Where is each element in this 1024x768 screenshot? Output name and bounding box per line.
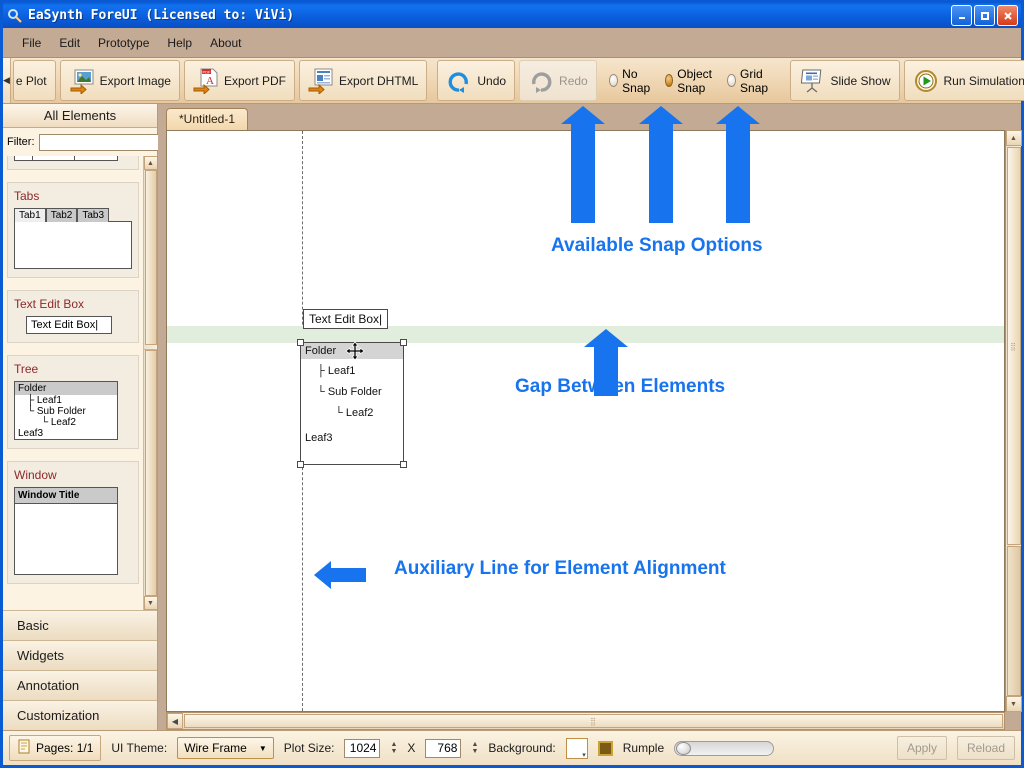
radio-grid-snap-icon bbox=[727, 74, 736, 87]
canvas-scroll-down-button[interactable]: ▼ bbox=[1006, 696, 1022, 712]
element-card-table[interactable]: 03 WindRx 123 bbox=[7, 156, 139, 170]
selection-handle-bottom-left[interactable] bbox=[297, 461, 304, 468]
magnifier-tag-icon bbox=[7, 8, 23, 24]
run-simulation-button[interactable]: Run Simulation bbox=[904, 60, 1024, 101]
canvas-scroll-left-button[interactable]: ◀ bbox=[167, 713, 183, 729]
reload-button[interactable]: Reload bbox=[957, 736, 1015, 760]
plot-height-input[interactable]: 768 bbox=[425, 739, 461, 758]
sidebar-category-basic[interactable]: Basic bbox=[3, 610, 157, 640]
status-bar: Pages: 1/1 UI Theme: Wire Frame ▼ Plot S… bbox=[3, 730, 1021, 765]
svg-text:PDF: PDF bbox=[202, 69, 211, 74]
mini-window-body bbox=[15, 504, 117, 574]
ui-theme-value: Wire Frame bbox=[184, 741, 247, 755]
export-pdf-icon: PDF A bbox=[193, 68, 219, 94]
radio-no-snap[interactable]: No Snap bbox=[605, 65, 658, 97]
close-button[interactable] bbox=[997, 5, 1018, 26]
canvas-hscroll-thumb[interactable]: ⣿ bbox=[184, 714, 1003, 728]
mini-table-cell-1: WindRx bbox=[33, 156, 75, 160]
element-title-tabs: Tabs bbox=[14, 189, 132, 203]
annotation-gap: Gap Between Elements bbox=[515, 376, 725, 398]
element-title-window: Window bbox=[14, 468, 132, 482]
menu-item-prototype[interactable]: Prototype bbox=[89, 33, 158, 53]
spinner-up-icon[interactable]: ▲ bbox=[390, 741, 397, 748]
scroll-grip-icon: ⣿ bbox=[1010, 342, 1017, 351]
elements-scroll-area: 03 WindRx 123 Tabs Tab1 Tab2 Tab3 bbox=[3, 156, 157, 610]
export-image-button[interactable]: Export Image bbox=[60, 60, 180, 101]
sidebar-scroll-down-button[interactable]: ▼ bbox=[144, 596, 158, 610]
category-list: Basic Widgets Annotation Customization bbox=[3, 610, 157, 730]
sidebar-scroll-thumb-lower[interactable] bbox=[145, 350, 157, 596]
pages-label: Pages: 1/1 bbox=[36, 741, 93, 755]
pages-icon bbox=[17, 739, 31, 757]
ui-theme-select[interactable]: Wire Frame ▼ bbox=[177, 737, 274, 759]
main-toolbar: ◀ e Plot Export Image PDF bbox=[3, 58, 1021, 104]
slide-show-label: Slide Show bbox=[830, 74, 890, 88]
arrow-no-snap-indicator bbox=[571, 123, 595, 223]
filter-label: Filter: bbox=[7, 136, 35, 148]
canvas-scroll-track-lower[interactable] bbox=[1007, 546, 1021, 696]
canvas-scroll-up-button[interactable]: ▲ bbox=[1006, 130, 1022, 146]
mini-tab-3: Tab3 bbox=[77, 208, 109, 222]
undo-button[interactable]: Undo bbox=[437, 60, 515, 101]
mini-tree-node-3: └ Leaf2 bbox=[15, 417, 117, 428]
elements-list: 03 WindRx 123 Tabs Tab1 Tab2 Tab3 bbox=[3, 156, 143, 610]
hscroll-grip-icon: ⣿ bbox=[590, 717, 597, 726]
window-controls bbox=[951, 5, 1018, 26]
radio-object-snap-icon bbox=[665, 74, 674, 87]
mini-tab-1: Tab1 bbox=[14, 208, 46, 222]
maximize-button[interactable] bbox=[974, 5, 995, 26]
arrow-object-snap-indicator bbox=[649, 123, 673, 223]
export-pdf-label: Export PDF bbox=[224, 74, 286, 88]
element-card-tree[interactable]: Tree Folder ├ Leaf1 └ Sub Folder └ Leaf2… bbox=[7, 355, 139, 449]
mini-tree: Folder ├ Leaf1 └ Sub Folder └ Leaf2 Leaf… bbox=[14, 381, 118, 440]
sidebar-scroll-thumb-upper[interactable] bbox=[145, 170, 157, 345]
title-bar: EaSynth ForeUI (Licensed to: ViVi) bbox=[3, 3, 1021, 28]
background-color-picker[interactable] bbox=[566, 738, 588, 759]
menu-item-file[interactable]: File bbox=[13, 33, 50, 53]
run-simulation-icon bbox=[913, 68, 939, 94]
undo-label: Undo bbox=[477, 74, 506, 88]
canvas-horizontal-scrollbar[interactable]: ◀ ⣿ bbox=[166, 712, 1005, 730]
plot-height-spinner[interactable]: ▲ ▼ bbox=[471, 741, 478, 755]
new-plot-button[interactable]: e Plot bbox=[13, 60, 56, 101]
radio-object-snap[interactable]: Object Snap bbox=[661, 65, 721, 97]
export-image-label: Export Image bbox=[100, 74, 171, 88]
element-title-text-edit-box: Text Edit Box bbox=[14, 297, 132, 311]
minimize-button[interactable] bbox=[951, 5, 972, 26]
application-window: EaSynth ForeUI (Licensed to: ViVi) File … bbox=[0, 0, 1024, 768]
spinner-down-icon[interactable]: ▼ bbox=[471, 748, 478, 755]
spinner-up-icon[interactable]: ▲ bbox=[471, 741, 478, 748]
canvas-vertical-scrollbar[interactable]: ▲ ⣿ ▼ bbox=[1005, 130, 1021, 712]
sidebar-category-customization[interactable]: Customization bbox=[3, 700, 157, 730]
selection-handle-bottom-right[interactable] bbox=[400, 461, 407, 468]
canvas-tree-node-leaf3: Leaf3 bbox=[301, 420, 403, 445]
radio-grid-snap[interactable]: Grid Snap bbox=[723, 65, 776, 97]
canvas-tree-node-leaf1: ├ Leaf1 bbox=[301, 359, 403, 378]
document-tab-untitled-1[interactable]: *Untitled-1 bbox=[166, 108, 248, 130]
mini-tree-root: Folder bbox=[15, 382, 117, 395]
mini-tree-node-2: └ Sub Folder bbox=[15, 406, 117, 417]
menu-item-about[interactable]: About bbox=[201, 33, 250, 53]
chevron-down-icon: ▼ bbox=[259, 744, 267, 753]
mini-tabs: Tab1 Tab2 Tab3 bbox=[14, 208, 132, 222]
annotation-snap-options: Available Snap Options bbox=[551, 235, 763, 257]
sidebar-header: All Elements bbox=[3, 104, 157, 128]
radio-object-snap-label: Object Snap bbox=[677, 67, 716, 95]
plot-size-separator: X bbox=[407, 741, 415, 755]
new-plot-label: e Plot bbox=[16, 74, 47, 88]
ui-theme-label: UI Theme: bbox=[111, 741, 167, 755]
element-card-text-edit-box[interactable]: Text Edit Box Text Edit Box| bbox=[7, 290, 139, 343]
texture-slider-knob[interactable] bbox=[676, 742, 691, 755]
filter-row: Filter: bbox=[3, 128, 157, 156]
canvas-tree-root-label: Folder bbox=[305, 345, 336, 357]
spinner-down-icon[interactable]: ▼ bbox=[390, 748, 397, 755]
snap-options-group: No Snap Object Snap Grid Snap bbox=[599, 58, 783, 103]
export-dhtml-button[interactable]: Export DHTML bbox=[299, 60, 427, 101]
mini-text-edit-box: Text Edit Box| bbox=[26, 316, 112, 334]
radio-no-snap-icon bbox=[609, 74, 618, 87]
radio-no-snap-label: No Snap bbox=[622, 67, 654, 95]
export-dhtml-label: Export DHTML bbox=[339, 74, 418, 88]
table-preview: 03 WindRx 123 bbox=[14, 156, 132, 161]
mini-tab-2: Tab2 bbox=[46, 208, 78, 222]
selection-handle-top-left[interactable] bbox=[297, 339, 304, 346]
texture-label: Rumple bbox=[623, 741, 664, 755]
canvas-text-edit-box[interactable]: Text Edit Box| bbox=[303, 309, 388, 329]
menu-bar: File Edit Prototype Help About bbox=[3, 28, 1021, 58]
texture-swatch[interactable] bbox=[598, 741, 613, 756]
move-cursor-icon bbox=[345, 341, 365, 361]
mini-tab-body bbox=[14, 221, 132, 269]
canvas-tree-root-row: Folder bbox=[301, 343, 403, 359]
element-card-tabs[interactable]: Tabs Tab1 Tab2 Tab3 bbox=[7, 182, 139, 278]
canvas-tree-node-leaf2: └ Leaf2 bbox=[301, 399, 403, 420]
sidebar-category-widgets[interactable]: Widgets bbox=[3, 640, 157, 670]
canvas-tree-node-subfolder: └ Sub Folder bbox=[301, 378, 403, 399]
redo-label: Redo bbox=[559, 74, 588, 88]
sidebar-category-annotation[interactable]: Annotation bbox=[3, 670, 157, 700]
plot-size-label: Plot Size: bbox=[284, 741, 335, 755]
window-title: EaSynth ForeUI (Licensed to: ViVi) bbox=[28, 8, 294, 23]
element-title-tree: Tree bbox=[14, 362, 132, 376]
sidebar-scroll-up-button[interactable]: ▲ bbox=[144, 156, 158, 170]
pages-button[interactable]: Pages: 1/1 bbox=[9, 735, 101, 761]
export-dhtml-icon bbox=[308, 68, 334, 94]
tabs-preview: Tab1 Tab2 Tab3 bbox=[14, 208, 132, 269]
mini-table-cell-2: 123 bbox=[75, 156, 98, 160]
mini-table-cell-0: 03 bbox=[15, 156, 33, 160]
canvas-scroll-thumb[interactable]: ⣿ bbox=[1007, 147, 1021, 545]
arrow-grid-snap-indicator bbox=[726, 123, 750, 223]
mini-window-title: Window Title bbox=[15, 488, 117, 504]
slide-show-icon bbox=[799, 68, 825, 94]
export-pdf-button[interactable]: PDF A Export PDF bbox=[184, 60, 295, 101]
menu-item-help[interactable]: Help bbox=[158, 33, 201, 53]
redo-button: Redo bbox=[519, 60, 597, 101]
annotation-aux-line: Auxiliary Line for Element Alignment bbox=[394, 558, 726, 580]
svg-text:A: A bbox=[206, 75, 214, 87]
run-simulation-label: Run Simulation bbox=[944, 74, 1024, 88]
slide-show-button[interactable]: Slide Show bbox=[790, 60, 899, 101]
toolbar-scroll-left-button[interactable]: ◀ bbox=[3, 58, 11, 103]
plot-width-input[interactable]: 1024 bbox=[344, 739, 380, 758]
sidebar-vertical-scrollbar[interactable]: ▲ ▼ bbox=[143, 156, 157, 610]
selection-handle-top-right[interactable] bbox=[400, 339, 407, 346]
export-image-icon bbox=[69, 68, 95, 94]
apply-button[interactable]: Apply bbox=[897, 736, 947, 760]
background-label: Background: bbox=[488, 741, 555, 755]
radio-grid-snap-label: Grid Snap bbox=[740, 67, 772, 95]
mini-tree-node-4: Leaf3 bbox=[15, 428, 117, 439]
menu-item-edit[interactable]: Edit bbox=[50, 33, 89, 53]
element-card-window[interactable]: Window Window Title bbox=[7, 461, 139, 584]
mini-tree-node-1: ├ Leaf1 bbox=[15, 395, 117, 406]
redo-icon bbox=[528, 68, 554, 94]
mini-window: Window Title bbox=[14, 487, 118, 575]
elements-sidebar: All Elements Filter: 03 WindRx 123 bbox=[3, 104, 158, 730]
canvas-tree-element[interactable]: Folder ├ Leaf1 └ Sub Folder └ Leaf2 Leaf… bbox=[300, 342, 404, 465]
arrow-aux-line-indicator bbox=[330, 568, 366, 582]
undo-icon bbox=[446, 68, 472, 94]
plot-width-spinner[interactable]: ▲ ▼ bbox=[390, 741, 397, 755]
mini-table: 03 WindRx 123 bbox=[14, 156, 118, 161]
texture-slider[interactable] bbox=[674, 741, 774, 756]
